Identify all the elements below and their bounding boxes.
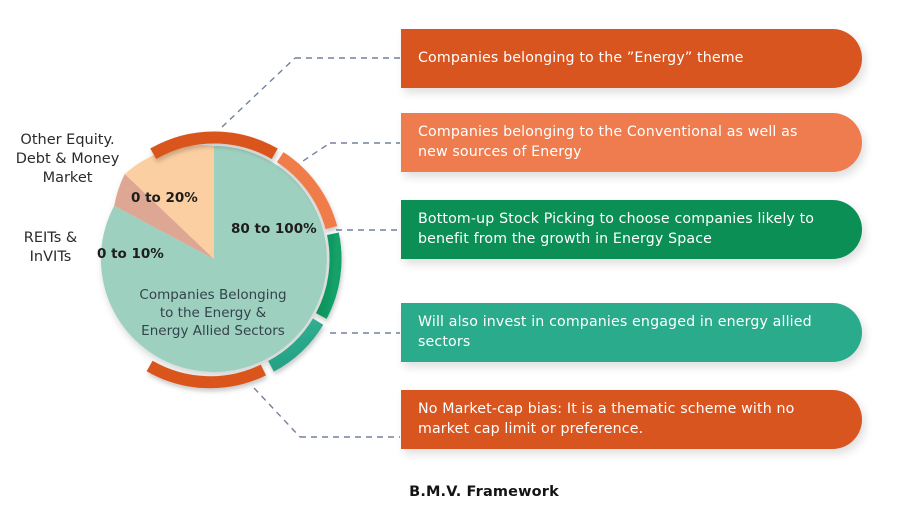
pie-center-label-line-3: Energy Allied Sectors <box>113 322 313 340</box>
callout-energy-allied-sectors-text: Will also invest in companies engaged in… <box>418 313 824 352</box>
outside-label-reits-line-1: REITs & <box>8 229 93 248</box>
outside-label-reits-line-2: InVITs <box>8 248 93 267</box>
connector-line-2 <box>294 143 330 167</box>
callout-conventional-new-energy[interactable]: Companies belonging to the Conventional … <box>401 113 862 172</box>
pie-center-label-line-1: Companies Belonging <box>113 286 313 304</box>
pie-chart-figure: 80 to 100% 0 to 20% 0 to 10% Companies B… <box>0 0 400 519</box>
callout-no-market-cap-bias[interactable]: No Market-cap bias: It is a thematic sch… <box>401 390 862 449</box>
pie-label-other-equity: 0 to 20% <box>131 190 198 206</box>
connector-line-1 <box>222 58 295 127</box>
callout-energy-allied-sectors[interactable]: Will also invest in companies engaged in… <box>401 303 862 362</box>
pie-center-label: Companies Belonging to the Energy & Ener… <box>113 286 313 341</box>
outside-label-other-equity-line-1: Other Equity. <box>10 131 125 150</box>
callout-energy-theme[interactable]: Companies belonging to the ”Energy” them… <box>401 29 862 88</box>
pie-label-reits: 0 to 10% <box>97 246 164 262</box>
pie-center-label-line-2: to the Energy & <box>113 304 313 322</box>
callout-energy-theme-text: Companies belonging to the ”Energy” them… <box>418 49 744 69</box>
chart-caption: B.M.V. Framework <box>0 484 913 500</box>
outside-label-other-equity-line-2: Debt & Money <box>10 150 125 169</box>
callout-no-market-cap-bias-text: No Market-cap bias: It is a thematic sch… <box>418 400 824 439</box>
callout-bottom-up-stock-picking[interactable]: Bottom-up Stock Picking to choose compan… <box>401 200 862 259</box>
outside-label-other-equity-line-3: Market <box>10 169 125 188</box>
infographic-canvas: 80 to 100% 0 to 20% 0 to 10% Companies B… <box>0 0 913 519</box>
outside-label-reits: REITs & InVITs <box>8 229 93 267</box>
callout-bottom-up-stock-picking-text: Bottom-up Stock Picking to choose compan… <box>418 210 824 249</box>
pie-label-energy: 80 to 100% <box>231 221 317 237</box>
connector-line-5 <box>254 388 300 437</box>
outside-label-other-equity: Other Equity. Debt & Money Market <box>10 131 125 188</box>
callout-conventional-new-energy-text: Companies belonging to the Conventional … <box>418 123 824 162</box>
